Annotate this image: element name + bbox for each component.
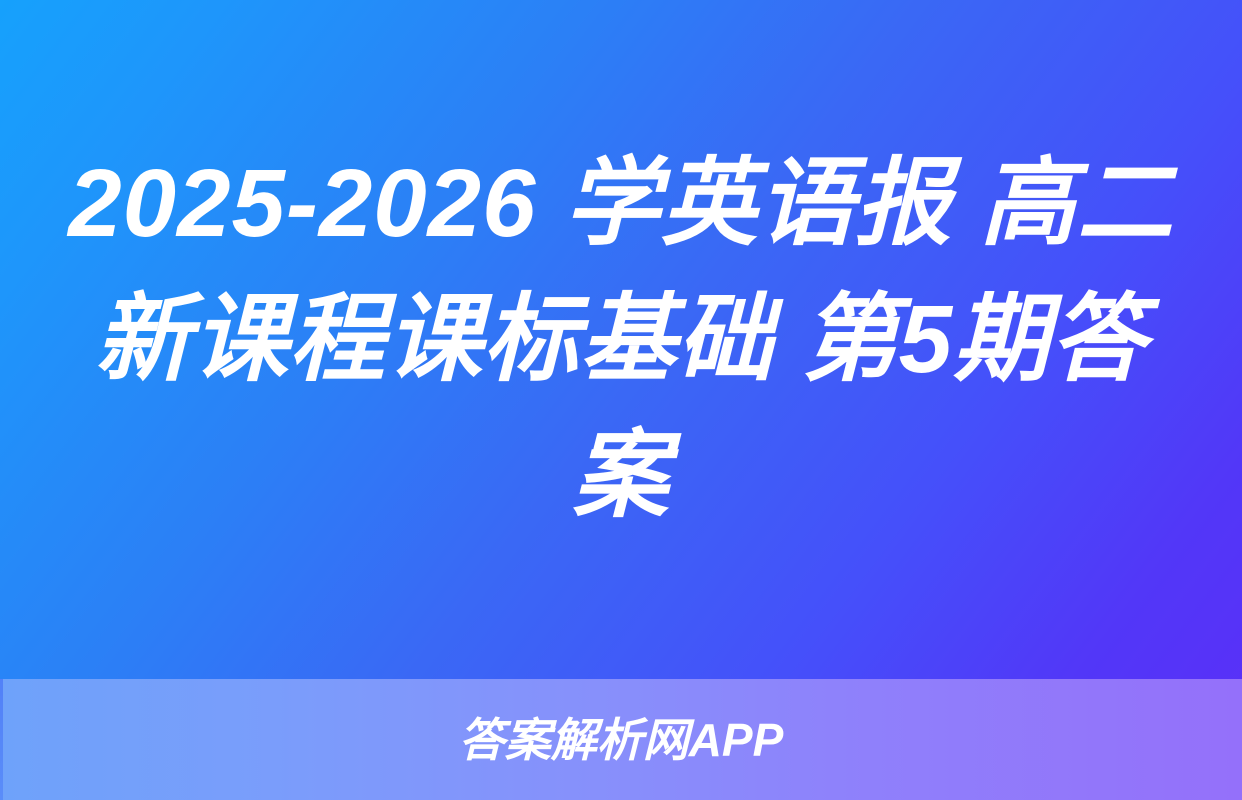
headline-container: 2025-2026 学英语报 高二 新课程课标基础 第5期答案 (0, 0, 1242, 679)
footer-brand-bar: 答案解析网APP (0, 679, 1242, 800)
app-brand-label: 答案解析网APP (459, 717, 784, 763)
poster-title: 2025-2026 学英语报 高二 新课程课标基础 第5期答案 (66, 136, 1176, 544)
answer-poster-card: 2025-2026 学英语报 高二 新课程课标基础 第5期答案 答案解析网APP (0, 0, 1242, 800)
footer-left-edge-accent (0, 679, 3, 800)
